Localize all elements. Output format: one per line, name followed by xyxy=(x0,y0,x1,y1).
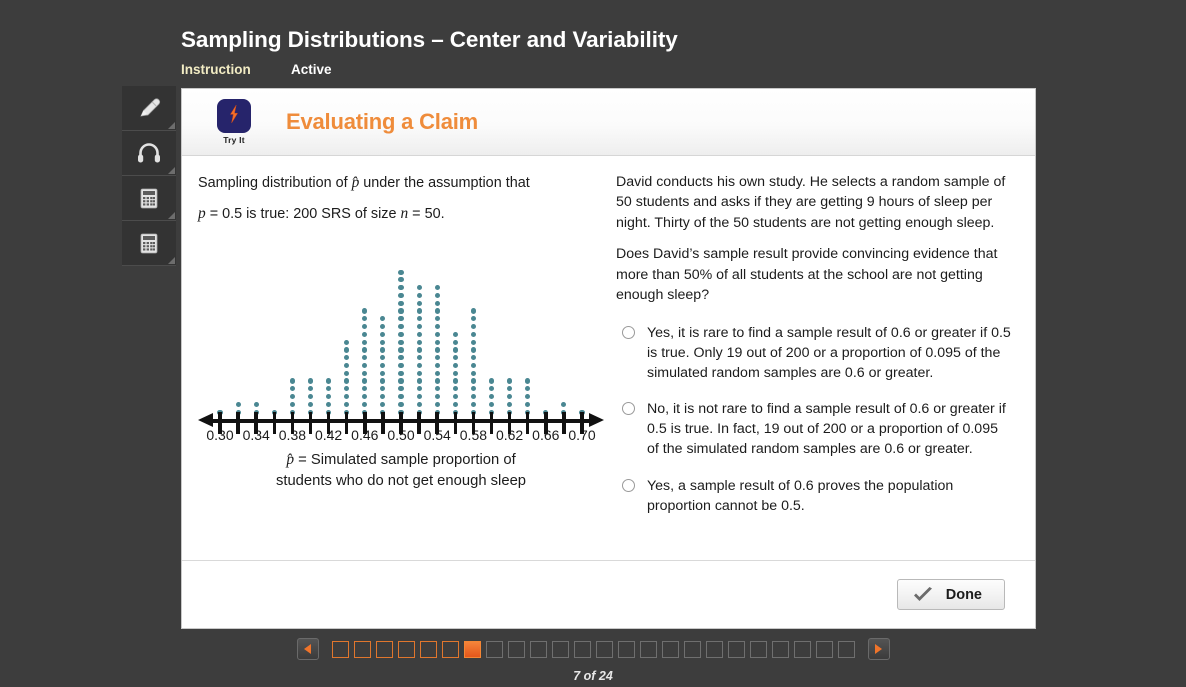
data-dot xyxy=(435,332,440,337)
page-pip[interactable] xyxy=(486,641,503,658)
p-hat-symbol-caption: p̂ xyxy=(286,451,294,468)
data-dot xyxy=(308,386,313,391)
data-dot xyxy=(453,332,458,337)
data-dot xyxy=(489,402,494,407)
question-prompt: Does David’s sample result provide convi… xyxy=(616,244,1013,305)
data-dot xyxy=(308,378,313,383)
data-dot xyxy=(471,324,476,329)
data-dot xyxy=(308,394,313,399)
chart-panel: Sampling distribution of p̂ under the as… xyxy=(182,156,612,560)
data-dot xyxy=(398,378,403,383)
data-dot xyxy=(344,402,349,407)
p-symbol: p xyxy=(198,205,206,222)
data-dot xyxy=(398,301,403,306)
page-pip[interactable] xyxy=(464,641,481,658)
answer-options: Yes, it is rare to find a sample result … xyxy=(616,323,1013,516)
data-dot xyxy=(453,402,458,407)
data-dot xyxy=(435,394,440,399)
data-dot xyxy=(290,394,295,399)
caption-line-1: = Simulated sample proportion of xyxy=(294,452,516,468)
data-dot xyxy=(435,386,440,391)
question-panel: David conducts his own study. He selects… xyxy=(612,156,1035,560)
data-dot xyxy=(398,277,403,282)
page-pip[interactable] xyxy=(530,641,547,658)
data-dot xyxy=(417,316,422,321)
page-pip[interactable] xyxy=(574,641,591,658)
data-dot xyxy=(471,378,476,383)
data-dot xyxy=(398,394,403,399)
data-dot xyxy=(471,308,476,313)
caption-line-2: students who do not get enough sleep xyxy=(276,473,526,489)
axis-tick xyxy=(544,412,548,434)
data-dot xyxy=(435,355,440,360)
data-dot xyxy=(417,402,422,407)
data-dot xyxy=(525,394,530,399)
data-dot xyxy=(344,340,349,345)
data-dot xyxy=(362,332,367,337)
page-pip[interactable] xyxy=(420,641,437,658)
data-dot xyxy=(471,340,476,345)
data-dot xyxy=(471,363,476,368)
page-pip[interactable] xyxy=(838,641,855,658)
data-dot xyxy=(417,355,422,360)
data-dot xyxy=(435,340,440,345)
data-dot xyxy=(435,363,440,368)
data-dot xyxy=(380,316,385,321)
data-dot xyxy=(362,371,367,376)
data-dot xyxy=(507,394,512,399)
data-dot xyxy=(417,386,422,391)
next-page-button[interactable] xyxy=(868,638,890,660)
page-pip[interactable] xyxy=(750,641,767,658)
page-pip[interactable] xyxy=(552,641,569,658)
data-dot xyxy=(254,402,259,407)
data-dot xyxy=(561,402,566,407)
data-dot xyxy=(380,363,385,368)
page-pip[interactable] xyxy=(684,641,701,658)
logo-caption: Try It xyxy=(208,135,260,145)
statement-text-3: = 0.5 is true: 200 SRS of size xyxy=(206,206,401,222)
data-dot xyxy=(417,347,422,352)
page-pip[interactable] xyxy=(508,641,525,658)
data-dot xyxy=(398,324,403,329)
page-pip[interactable] xyxy=(596,641,613,658)
data-dot xyxy=(362,355,367,360)
axis-tick xyxy=(454,412,458,434)
dot-column xyxy=(433,285,442,417)
data-dot xyxy=(417,324,422,329)
data-dot xyxy=(362,340,367,345)
data-dot xyxy=(507,386,512,391)
highlighter-icon xyxy=(134,93,164,123)
radio-button[interactable] xyxy=(622,326,635,339)
data-dot xyxy=(344,394,349,399)
data-dot xyxy=(453,347,458,352)
calculator-icon xyxy=(134,183,164,213)
answer-option[interactable]: Yes, a sample result of 0.6 proves the p… xyxy=(616,476,1013,516)
page-pip[interactable] xyxy=(442,641,459,658)
dot-plot-dots xyxy=(198,237,604,417)
prev-page-button[interactable] xyxy=(297,638,319,660)
axis-tick xyxy=(291,412,295,434)
dot-column xyxy=(378,316,387,417)
answer-option[interactable]: Yes, it is rare to find a sample result … xyxy=(616,323,1013,383)
statement-text-2: under the assumption that xyxy=(359,175,529,191)
data-dot xyxy=(380,386,385,391)
data-dot xyxy=(380,340,385,345)
status-badge: Active xyxy=(291,62,332,77)
page-pips xyxy=(332,641,855,658)
data-dot xyxy=(398,308,403,313)
data-dot xyxy=(453,386,458,391)
page-indicator: 7 of 24 xyxy=(0,669,1186,683)
data-dot xyxy=(398,332,403,337)
data-dot xyxy=(471,332,476,337)
data-dot xyxy=(435,293,440,298)
data-dot xyxy=(417,332,422,337)
triangle-left-icon xyxy=(304,644,311,654)
lightning-bolt-icon xyxy=(223,103,245,130)
page-pip[interactable] xyxy=(332,641,349,658)
data-dot xyxy=(417,308,422,313)
data-dot xyxy=(417,363,422,368)
data-dot xyxy=(380,402,385,407)
scientific-calculator-tool[interactable] xyxy=(122,221,176,266)
data-dot xyxy=(398,347,403,352)
axis-tick xyxy=(345,412,349,434)
data-dot xyxy=(435,402,440,407)
axis-tick xyxy=(562,412,566,434)
data-dot xyxy=(362,378,367,383)
answer-option[interactable]: No, it is not rare to find a sample resu… xyxy=(616,399,1013,459)
data-dot xyxy=(471,386,476,391)
data-dot xyxy=(435,308,440,313)
data-dot xyxy=(398,355,403,360)
triangle-right-icon xyxy=(875,644,882,654)
data-dot xyxy=(453,340,458,345)
data-dot xyxy=(417,394,422,399)
radio-button[interactable] xyxy=(622,479,635,492)
data-dot xyxy=(453,355,458,360)
data-dot xyxy=(398,270,403,275)
data-dot xyxy=(507,402,512,407)
data-dot xyxy=(525,402,530,407)
highlighter-tool[interactable] xyxy=(122,86,176,131)
data-dot xyxy=(489,386,494,391)
data-dot xyxy=(362,324,367,329)
data-dot xyxy=(380,332,385,337)
lesson-card: Try It Evaluating a Claim Sampling distr… xyxy=(181,88,1036,629)
data-dot xyxy=(398,371,403,376)
data-dot xyxy=(435,316,440,321)
question-context: David conducts his own study. He selects… xyxy=(616,172,1013,233)
data-dot xyxy=(453,378,458,383)
data-dot xyxy=(417,371,422,376)
axis-tick xyxy=(435,412,439,434)
data-dot xyxy=(471,347,476,352)
data-dot xyxy=(471,402,476,407)
data-dot xyxy=(344,386,349,391)
data-dot xyxy=(417,378,422,383)
data-dot xyxy=(344,363,349,368)
data-dot xyxy=(398,293,403,298)
data-dot xyxy=(489,378,494,383)
axis-tick xyxy=(363,412,367,434)
data-dot xyxy=(344,371,349,376)
data-dot xyxy=(417,301,422,306)
data-dot xyxy=(453,371,458,376)
data-dot xyxy=(417,340,422,345)
page-pip[interactable] xyxy=(640,641,657,658)
axis-tick xyxy=(490,412,494,434)
axis-tick xyxy=(472,412,476,434)
card-body: Sampling distribution of p̂ under the as… xyxy=(182,156,1035,560)
card-header: Try It Evaluating a Claim xyxy=(182,89,1035,156)
axis-tick xyxy=(218,412,222,434)
data-dot xyxy=(398,285,403,290)
answer-option-label: No, it is not rare to find a sample resu… xyxy=(647,399,1013,459)
data-dot xyxy=(525,378,530,383)
answer-option-label: Yes, a sample result of 0.6 proves the p… xyxy=(647,476,1013,516)
checkmark-icon xyxy=(912,586,934,604)
data-dot xyxy=(435,378,440,383)
axis-tick xyxy=(580,412,584,434)
data-dot xyxy=(471,316,476,321)
data-dot xyxy=(489,394,494,399)
page-pip[interactable] xyxy=(398,641,415,658)
data-dot xyxy=(362,308,367,313)
data-dot xyxy=(453,394,458,399)
headphones-icon xyxy=(134,138,164,168)
data-dot xyxy=(380,378,385,383)
data-dot xyxy=(290,378,295,383)
data-dot xyxy=(380,394,385,399)
data-dot xyxy=(398,340,403,345)
data-dot xyxy=(290,386,295,391)
page-pip[interactable] xyxy=(662,641,679,658)
data-dot xyxy=(362,394,367,399)
data-dot xyxy=(380,324,385,329)
data-dot xyxy=(326,394,331,399)
data-dot xyxy=(525,386,530,391)
page-pip[interactable] xyxy=(376,641,393,658)
dot-column xyxy=(342,340,351,418)
data-dot xyxy=(236,402,241,407)
data-dot xyxy=(435,324,440,329)
data-dot xyxy=(435,285,440,290)
page-pip[interactable] xyxy=(728,641,745,658)
statement-text-1: Sampling distribution of xyxy=(198,175,352,191)
data-dot xyxy=(398,402,403,407)
radio-button[interactable] xyxy=(622,402,635,415)
dot-column xyxy=(469,308,478,417)
page-pip[interactable] xyxy=(772,641,789,658)
chart-axis-caption: p̂ = Simulated sample proportion of stud… xyxy=(198,449,604,492)
data-dot xyxy=(417,293,422,298)
calculator-icon xyxy=(134,228,164,258)
answer-option-label: Yes, it is rare to find a sample result … xyxy=(647,323,1013,383)
data-dot xyxy=(362,386,367,391)
statement-text-4: = 50. xyxy=(408,206,444,222)
card-footer: Done xyxy=(182,560,1035,628)
axis-tick xyxy=(273,412,277,434)
axis-tick xyxy=(526,412,530,434)
data-dot xyxy=(326,386,331,391)
data-dot xyxy=(471,371,476,376)
data-dot xyxy=(471,355,476,360)
calculator-tool[interactable] xyxy=(122,176,176,221)
card-title: Evaluating a Claim xyxy=(286,109,478,135)
done-button-label: Done xyxy=(946,587,982,603)
data-dot xyxy=(507,378,512,383)
data-dot xyxy=(326,402,331,407)
axis-tick xyxy=(381,412,385,434)
data-dot xyxy=(398,316,403,321)
chart-statement: Sampling distribution of p̂ under the as… xyxy=(198,172,600,225)
data-dot xyxy=(326,378,331,383)
axis-tick xyxy=(399,412,403,434)
page-pip[interactable] xyxy=(706,641,723,658)
axis-tick xyxy=(236,412,240,434)
axis-tick xyxy=(309,412,313,434)
page-pip[interactable] xyxy=(618,641,635,658)
axis-tick xyxy=(508,412,512,434)
data-dot xyxy=(435,371,440,376)
data-dot xyxy=(308,402,313,407)
data-dot xyxy=(380,355,385,360)
data-dot xyxy=(344,378,349,383)
tool-rail xyxy=(122,86,176,266)
data-dot xyxy=(380,347,385,352)
axis-tick xyxy=(254,412,258,434)
data-dot xyxy=(362,402,367,407)
dot-column xyxy=(415,285,424,417)
done-button[interactable]: Done xyxy=(897,579,1005,610)
data-dot xyxy=(471,394,476,399)
axis-tick xyxy=(417,412,421,434)
instruction-label: Instruction xyxy=(181,62,251,77)
data-dot xyxy=(417,285,422,290)
dot-column xyxy=(360,308,369,417)
try-it-logo: Try It xyxy=(208,99,260,145)
page-pip[interactable] xyxy=(794,641,811,658)
data-dot xyxy=(398,363,403,368)
audio-tool[interactable] xyxy=(122,131,176,176)
data-dot xyxy=(453,363,458,368)
data-dot xyxy=(398,386,403,391)
axis-tick xyxy=(327,412,331,434)
page-pip[interactable] xyxy=(354,641,371,658)
dot-plot-chart: 0.300.340.380.420.460.500.540.580.620.66… xyxy=(198,233,604,443)
data-dot xyxy=(362,347,367,352)
data-dot xyxy=(290,402,295,407)
dot-column xyxy=(451,332,460,418)
data-dot xyxy=(435,347,440,352)
pagination-bar xyxy=(0,638,1186,660)
data-dot xyxy=(344,355,349,360)
data-dot xyxy=(380,371,385,376)
page-pip[interactable] xyxy=(816,641,833,658)
data-dot xyxy=(362,363,367,368)
data-dot xyxy=(344,347,349,352)
page-title: Sampling Distributions – Center and Vari… xyxy=(181,27,678,53)
data-dot xyxy=(362,316,367,321)
data-dot xyxy=(435,301,440,306)
dot-column xyxy=(397,270,406,418)
